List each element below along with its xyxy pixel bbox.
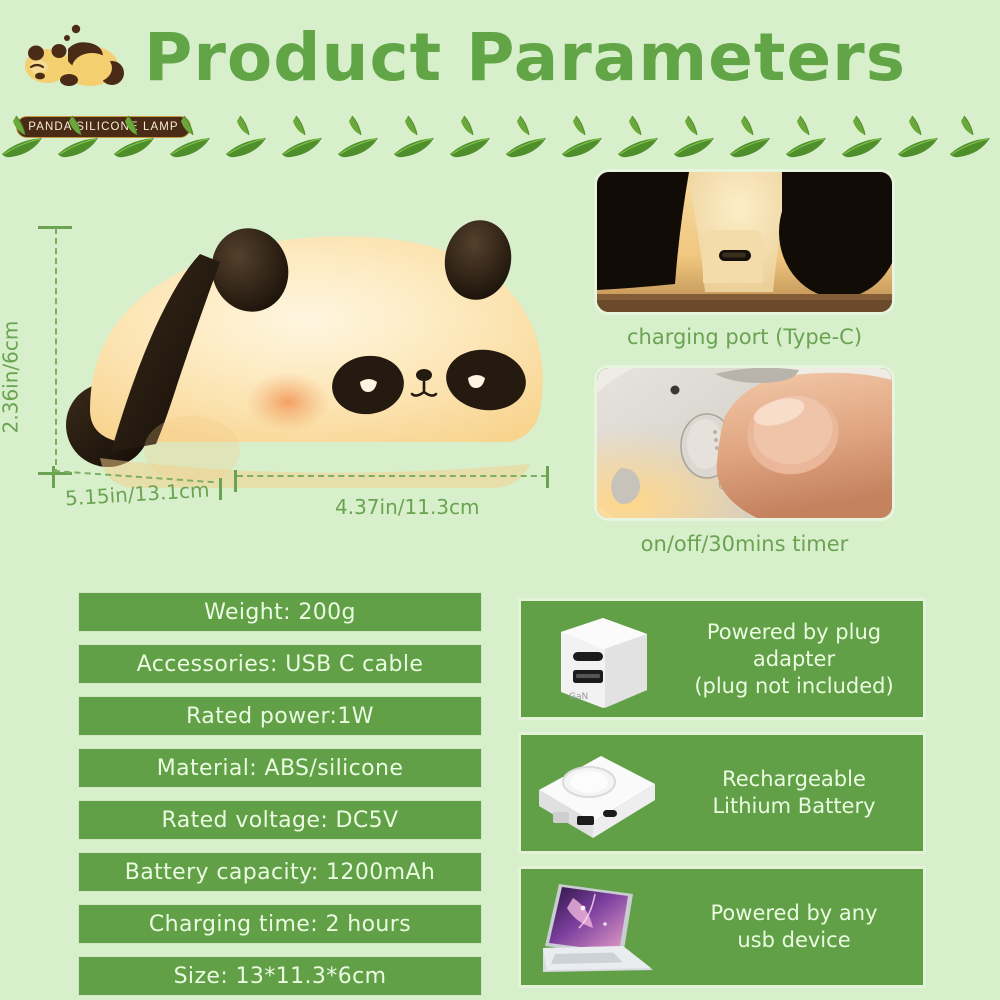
header: PANDA SILICONE LAMP Product Parameters (0, 0, 1000, 165)
power-option-line: Rechargeable (671, 766, 917, 793)
page-title: Product Parameters (130, 22, 920, 94)
dimension-line-width (237, 475, 547, 477)
spec-label: Weight: 200g (204, 600, 356, 625)
dimension-line-vertical (55, 228, 57, 475)
sleeping-panda-logo-icon (20, 24, 140, 90)
spec-row: Size: 13*11.3*6cm (78, 956, 482, 996)
spec-row: Charging time: 2 hours (78, 904, 482, 944)
product-dimension-diagram: 2.36in/6cm (0, 170, 580, 570)
power-option-text: Rechargeable Lithium Battery (671, 766, 923, 820)
charging-port-caption: charging port (Type-C) (597, 325, 892, 349)
spec-row: Accessories: USB C cable (78, 644, 482, 684)
spec-label: Battery capacity: 1200mAh (125, 860, 436, 885)
dimension-label-height: 2.36in/6cm (0, 321, 22, 434)
laptop-icon (521, 872, 671, 982)
finger-pressing-power-button-photo: ON OFF (597, 368, 892, 518)
spec-label: Rated power:1W (186, 704, 374, 729)
power-option-line: Powered by any (671, 900, 917, 927)
charging-port-closeup-photo (597, 172, 892, 312)
spec-row: Battery capacity: 1200mAh (78, 852, 482, 892)
panda-silicone-lamp-photo (60, 210, 560, 490)
spec-row: Rated power:1W (78, 696, 482, 736)
bamboo-leaf-divider-icon (0, 112, 1000, 164)
dimension-tick-width-right (546, 466, 549, 488)
power-option-card: Rechargeable Lithium Battery (518, 732, 926, 854)
power-option-card: GaN Powered by plug adapter (plug not in… (518, 598, 926, 720)
spec-label: Charging time: 2 hours (149, 912, 411, 937)
power-option-line: adapter (671, 646, 917, 673)
svg-text:GaN: GaN (569, 692, 588, 702)
power-bank-icon (521, 738, 671, 848)
spec-label: Rated voltage: DC5V (162, 808, 399, 833)
power-option-line: Powered by plug (671, 619, 917, 646)
product-parameters-infographic: PANDA SILICONE LAMP Product Parameters (0, 0, 1000, 1000)
spec-row: Material: ABS/silicone (78, 748, 482, 788)
dimension-tick-width-left (234, 470, 237, 492)
plug-adapter-icon: GaN (521, 604, 671, 714)
power-button-caption: on/off/30mins timer (597, 532, 892, 556)
spec-row: Rated voltage: DC5V (78, 800, 482, 840)
power-option-line: Lithium Battery (671, 793, 917, 820)
dimension-label-width: 4.37in/11.3cm (335, 495, 480, 519)
spec-label: Size: 13*11.3*6cm (174, 964, 387, 989)
dimension-tick-depth-right (219, 478, 222, 500)
power-bank-art (521, 738, 671, 848)
spec-label: Accessories: USB C cable (137, 652, 424, 677)
power-options-list: GaN Powered by plug adapter (plug not in… (518, 598, 926, 1000)
specification-list: Weight: 200g Accessories: USB C cable Ra… (78, 592, 482, 1000)
power-option-line: (plug not included) (671, 673, 917, 700)
power-option-text: Powered by plug adapter (plug not includ… (671, 619, 923, 700)
power-option-line: usb device (671, 927, 917, 954)
power-option-card: Powered by any usb device (518, 866, 926, 988)
power-option-text: Powered by any usb device (671, 900, 923, 954)
spec-label: Material: ABS/silicone (157, 756, 404, 781)
laptop-art (521, 872, 671, 982)
plug-adapter-art: GaN (521, 604, 671, 714)
spec-row: Weight: 200g (78, 592, 482, 632)
